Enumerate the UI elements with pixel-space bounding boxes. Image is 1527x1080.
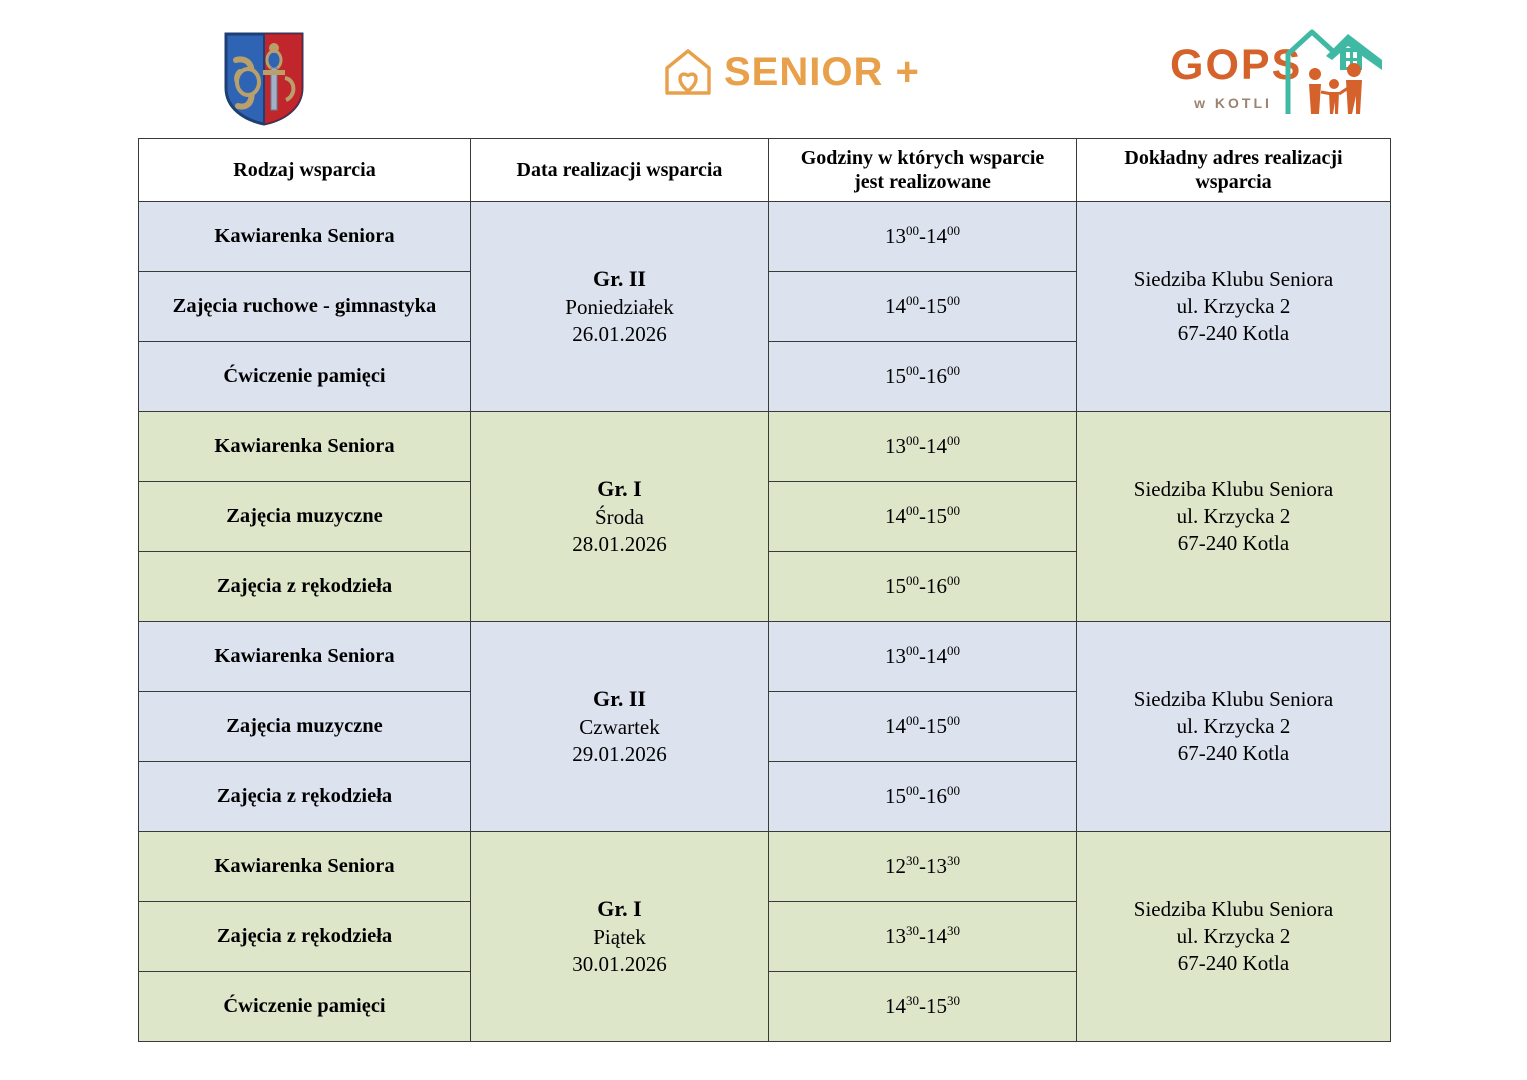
coat-of-arms-icon — [222, 30, 306, 126]
date-cell: Gr. II Czwartek 29.01.2026 — [471, 622, 769, 832]
hours-cell: 1300-1400 — [769, 622, 1077, 692]
hours-cell: 1300-1400 — [769, 202, 1077, 272]
hours-cell: 1500-1600 — [769, 342, 1077, 412]
date-cell: Gr. II Poniedziałek 26.01.2026 — [471, 202, 769, 412]
address-cell: Siedziba Klubu Seniora ul. Krzycka 2 67-… — [1077, 202, 1391, 412]
support-type-cell: Ćwiczenie pamięci — [139, 972, 471, 1042]
hours-cell: 1300-1400 — [769, 412, 1077, 482]
hours-cell: 1400-1500 — [769, 692, 1077, 762]
house-heart-icon — [662, 46, 714, 98]
support-schedule-table: Rodzaj wsparcia Data realizacji wsparcia… — [138, 138, 1391, 1042]
support-type-cell: Zajęcia z rękodzieła — [139, 762, 471, 832]
hours-cell: 1430-1530 — [769, 972, 1077, 1042]
hours-cell: 1330-1430 — [769, 902, 1077, 972]
senior-plus-logo: SENIOR + — [662, 44, 920, 100]
address-cell: Siedziba Klubu Seniora ul. Krzycka 2 67-… — [1077, 622, 1391, 832]
column-header-date: Data realizacji wsparcia — [471, 139, 769, 202]
support-type-cell: Kawiarenka Seniora — [139, 202, 471, 272]
column-header-support-type: Rodzaj wsparcia — [139, 139, 471, 202]
day-label: Czwartek — [481, 714, 758, 741]
column-header-address: Dokładny adres realizacji wsparcia — [1077, 139, 1391, 202]
hours-cell: 1230-1330 — [769, 832, 1077, 902]
group-label: Gr. I — [481, 895, 758, 924]
support-type-cell: Zajęcia muzyczne — [139, 692, 471, 762]
group-label: Gr. II — [481, 685, 758, 714]
support-type-cell: Zajęcia muzyczne — [139, 482, 471, 552]
date-cell: Gr. I Środa 28.01.2026 — [471, 412, 769, 622]
support-type-cell: Ćwiczenie pamięci — [139, 342, 471, 412]
column-header-hours: Godziny w których wsparcie jest realizow… — [769, 139, 1077, 202]
date-label: 26.01.2026 — [481, 321, 758, 348]
hours-cell: 1400-1500 — [769, 482, 1077, 552]
address-cell: Siedziba Klubu Seniora ul. Krzycka 2 67-… — [1077, 832, 1391, 1042]
day-label: Środa — [481, 504, 758, 531]
date-label: 30.01.2026 — [481, 951, 758, 978]
date-label: 28.01.2026 — [481, 531, 758, 558]
support-type-cell: Kawiarenka Seniora — [139, 832, 471, 902]
logo-header-bar: SENIOR + GOPS w KOTLI — [0, 0, 1527, 130]
house-family-icon — [1282, 26, 1386, 114]
support-type-cell: Kawiarenka Seniora — [139, 622, 471, 692]
day-label: Piątek — [481, 924, 758, 951]
hours-cell: 1400-1500 — [769, 272, 1077, 342]
address-cell: Siedziba Klubu Seniora ul. Krzycka 2 67-… — [1077, 412, 1391, 622]
table-header-row: Rodzaj wsparcia Data realizacji wsparcia… — [139, 139, 1391, 202]
gops-subtitle: w KOTLI — [1170, 95, 1296, 111]
senior-plus-wordmark: SENIOR + — [724, 52, 920, 92]
gops-logo: GOPS w KOTLI — [1170, 26, 1386, 114]
support-type-cell: Kawiarenka Seniora — [139, 412, 471, 482]
group-label: Gr. II — [481, 265, 758, 294]
table-row: Kawiarenka Seniora Gr. II Czwartek 29.01… — [139, 622, 1391, 692]
hours-cell: 1500-1600 — [769, 762, 1077, 832]
support-type-cell: Zajęcia z rękodzieła — [139, 552, 471, 622]
date-label: 29.01.2026 — [481, 741, 758, 768]
group-label: Gr. I — [481, 475, 758, 504]
support-type-cell: Zajęcia ruchowe - gimnastyka — [139, 272, 471, 342]
gops-text-block: GOPS w KOTLI — [1170, 44, 1296, 111]
table-row: Kawiarenka Seniora Gr. II Poniedziałek 2… — [139, 202, 1391, 272]
gops-wordmark: GOPS — [1170, 44, 1296, 87]
hours-cell: 1500-1600 — [769, 552, 1077, 622]
date-cell: Gr. I Piątek 30.01.2026 — [471, 832, 769, 1042]
table-row: Kawiarenka Seniora Gr. I Środa 28.01.202… — [139, 412, 1391, 482]
support-type-cell: Zajęcia z rękodzieła — [139, 902, 471, 972]
day-label: Poniedziałek — [481, 294, 758, 321]
table-row: Kawiarenka Seniora Gr. I Piątek 30.01.20… — [139, 832, 1391, 902]
